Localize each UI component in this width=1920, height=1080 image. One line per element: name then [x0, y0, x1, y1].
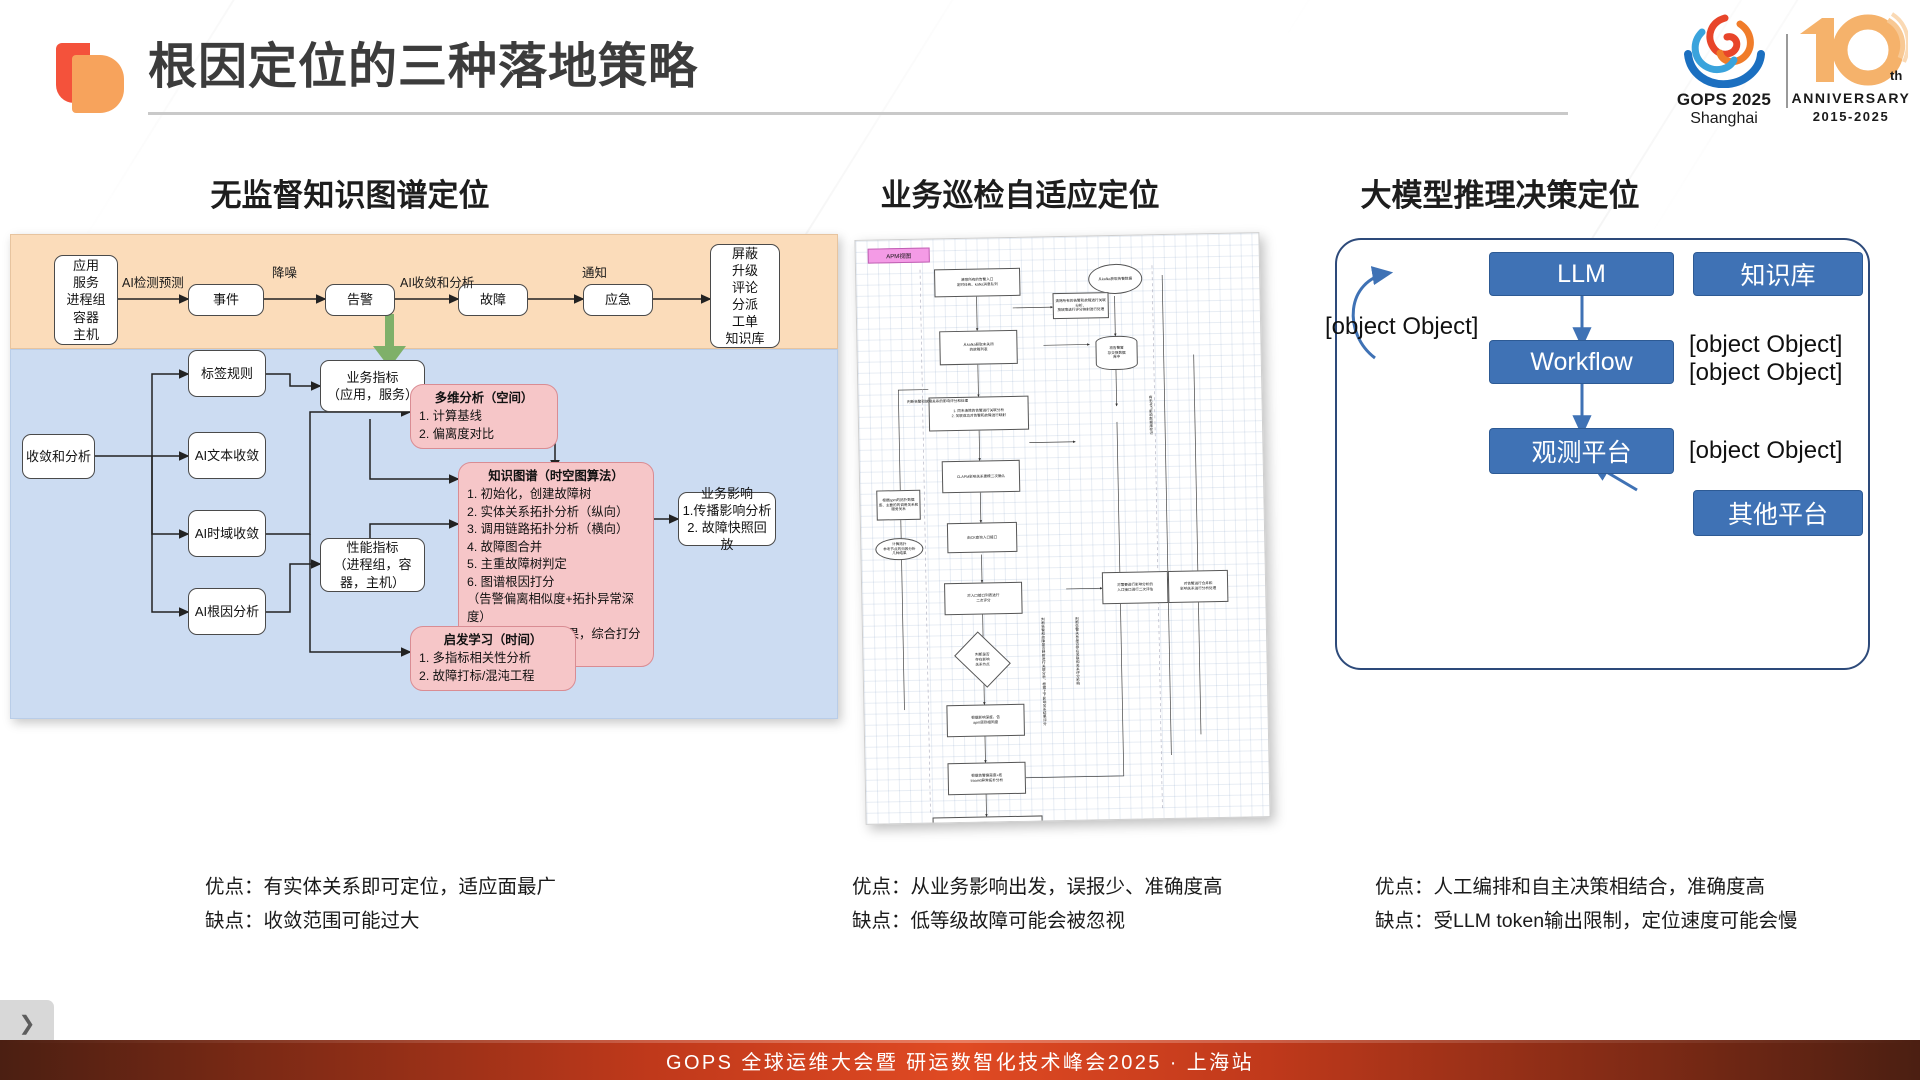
flow-node-datastore: 将告警暂 存交换数据 库中: [1095, 336, 1138, 371]
flow-node: 对告警进行合并和 影响关系进行分析处理: [1168, 570, 1229, 603]
gops-swirl-icon: [1682, 14, 1768, 88]
panel3-box-workflow: Workflow: [1489, 340, 1674, 384]
footer-highlight: [0, 1040, 1920, 1043]
column-heading-1: 无监督知识图谱定位: [120, 170, 580, 215]
panel1-node-time-convergence: AI时域收敛: [188, 510, 266, 557]
panel-llm-reasoning: LLM 知识库 Workflow 观测平台 其他平台 [object Objec…: [1335, 238, 1870, 670]
panel1-edge-label-4: 通知: [582, 262, 607, 281]
page-title: 根因定位的三种落地策略: [148, 38, 698, 97]
panel1-node-tag-rules: 标签规则: [188, 350, 266, 397]
flow-node: 根据告警偏离度+拓 traceId异常拓扑分析: [947, 762, 1026, 795]
box-title: 启发学习（时间）: [419, 632, 567, 649]
box-title: 多维分析（空间）: [419, 390, 549, 407]
caption-pros: 优点：从业务影响出发，误报少、准确度高: [852, 870, 1223, 904]
panel3-label-mcp-host: [object Object]: [1689, 330, 1842, 361]
node-label: 屏蔽 升级 评论 分派 工单 知识库: [725, 245, 764, 348]
slide-header: 根因定位的三种落地策略 GOPS 2025 Shanghai th ANNIVE…: [0, 0, 1920, 150]
node-label: 业务影响 1.传播影响分析 2. 故障快照回放: [682, 485, 772, 554]
panel1-edge-label-1: AI检测预测: [122, 272, 184, 291]
logo-event-name: GOPS 2025: [1668, 90, 1780, 110]
logo-anniversary: ANNIVERSARY: [1790, 90, 1912, 106]
panel3-box-llm: LLM: [1489, 252, 1674, 296]
node-label: 应用 服务 进程组 容器 主机: [66, 257, 105, 343]
box-line: （告警偏离相似度+拓扑异常深度）: [467, 592, 634, 623]
node-label: AI根因分析: [195, 603, 259, 620]
node-label: 告警: [347, 291, 373, 308]
caption-pros: 优点：人工编排和自主决策相结合，准确度高: [1375, 870, 1798, 904]
node-label: 应急: [605, 291, 631, 308]
panel1-edge-label-3: AI收敛和分析: [400, 272, 474, 291]
box-line: 6. 图谱根因打分: [467, 575, 554, 589]
tenth-anniversary-icon: th: [1792, 12, 1908, 88]
box-line: 1. 多指标相关性分析: [419, 651, 531, 665]
node-label: AI时域收敛: [195, 525, 259, 542]
box-line: 3. 调用链路拓扑分析（横向）: [467, 522, 628, 536]
caption-panel-1: 优点：有实体关系即可定位，适应面最广 缺点：收敛范围可能过大: [205, 870, 556, 938]
svg-text:th: th: [1890, 68, 1902, 83]
node-label: AI文本收敛: [195, 447, 259, 464]
column-heading-2: 业务巡检自适应定位: [790, 170, 1250, 215]
node-label: 故障: [480, 291, 506, 308]
panel1-node-convergence: 收敛和分析: [22, 434, 95, 479]
box-line: 2. 实体关系拓扑分析（纵向）: [467, 505, 628, 519]
box-line: 4. 故障图合并: [467, 540, 542, 554]
flow-node: 由CK查询入口接口: [947, 522, 1018, 553]
column-heading-3: 大模型推理决策定位: [1250, 170, 1750, 215]
flow-node: CLAPM影响关系建模二次确认: [942, 460, 1021, 493]
node-label: 业务指标 （应用，服务）: [327, 369, 418, 403]
panel3-label-mcp-server: [object Object]: [1689, 436, 1842, 467]
caption-cons: 缺点：低等级故障可能会被忽视: [852, 904, 1223, 938]
box-line: 2. 故障打标/混沌工程: [419, 669, 534, 683]
panel1-node-actions: 屏蔽 升级 评论 分派 工单 知识库: [710, 244, 780, 348]
box-line: 1. 计算基线: [419, 409, 482, 423]
flow-node: 从kafka获取未关闭 的故障列表: [939, 330, 1018, 365]
logo-divider: [1786, 34, 1788, 108]
caption-panel-2: 优点：从业务影响出发，误报少、准确度高 缺点：低等级故障可能会被忽视: [852, 870, 1223, 938]
panel1-pink-box-multidim: 多维分析（空间） 1. 计算基线 2. 偏离度对比: [410, 384, 558, 449]
title-divider: [148, 112, 1568, 115]
panel3-label-react: [object Object]: [1325, 312, 1478, 343]
panel-business-inspection-flowchart: APM视图: [854, 232, 1270, 825]
box-title: 知识图谱（时空图算法）: [467, 468, 645, 485]
panel-unsupervised-knowledge-graph: 应用 服务 进程组 容器 主机 事件 告警 故障 应急 屏蔽 升级 评论 分派 …: [10, 234, 838, 719]
flow-node: 对需要进行影响分析的 入口接口进行二次评估: [1102, 571, 1169, 604]
gops-logo: GOPS 2025 Shanghai th ANNIVERSARY 2015-2…: [1662, 12, 1912, 124]
panel1-node-business-impact: 业务影响 1.传播影响分析 2. 故障快照回放: [678, 492, 776, 546]
brand-mark-icon: [56, 43, 124, 111]
panel1-node-emergency: 应急: [583, 284, 653, 316]
panel3-box-knowledge-base: 知识库: [1693, 252, 1863, 296]
flow-node: 把apm的调用链计算进行打分（采 计异常数据分值同:一致），同时避免 的告警ap…: [933, 815, 1044, 824]
flow-node: 对入口接口列表进行 二次评分: [944, 582, 1023, 615]
flow-node: 根据影响深度、告 apm原则相同度: [946, 704, 1025, 737]
box-line: 2. 偏离度对比: [419, 427, 494, 441]
box-line: 1. 初始化，创建故障树: [467, 487, 591, 501]
logo-years: 2015-2025: [1790, 109, 1912, 124]
flow-node: 根据apm的拓扑数据 库、主要的的调用关系和服务关系: [876, 490, 921, 521]
logo-city: Shanghai: [1668, 110, 1780, 128]
panel1-node-source: 应用 服务 进程组 容器 主机: [54, 255, 118, 345]
caption-pros: 优点：有实体关系即可定位，适应面最广: [205, 870, 556, 904]
panel3-box-other-platform: 其他平台: [1693, 490, 1863, 536]
flow-node: 清除所有的告警入口 定时任务、kafka消息队列: [934, 268, 1021, 298]
panel3-box-observability-platform: 观测平台: [1489, 428, 1674, 474]
panel1-pink-box-heuristic: 启发学习（时间） 1. 多指标相关性分析 2. 故障打标/混沌工程: [410, 626, 576, 691]
footer-text: GOPS 全球运维大会暨 研运数智化技术峰会2025 · 上海站: [666, 1046, 1254, 1075]
node-label: 事件: [213, 291, 239, 308]
chevron-right-icon: ❯: [19, 1011, 36, 1036]
panel3-label-mcp-client: [object Object]: [1689, 358, 1842, 389]
panel2-connectors: [855, 233, 1270, 825]
box-line: 5. 主重故障树判定: [467, 557, 567, 571]
caption-cons: 缺点：受LLM token输出限制，定位速度可能会慢: [1375, 904, 1798, 938]
node-label: 收敛和分析: [26, 448, 91, 465]
panel1-node-alert: 告警: [325, 284, 395, 316]
slide-footer: GOPS 全球运维大会暨 研运数智化技术峰会2025 · 上海站: [0, 1040, 1920, 1080]
node-label: 标签规则: [201, 365, 253, 382]
panel1-node-text-convergence: AI文本收敛: [188, 432, 266, 479]
panel1-node-root-cause: AI根因分析: [188, 588, 266, 635]
flow-node: 清除所有的告警和故障进行关联分析、 按故障进行评分映射进行处理: [1052, 292, 1108, 319]
panel1-node-event: 事件: [188, 284, 264, 316]
caption-panel-3: 优点：人工编排和自主决策相结合，准确度高 缺点：受LLM token输出限制，定…: [1375, 870, 1798, 938]
node-label: 性能指标 （进程组，容器，主机）: [324, 539, 421, 590]
caption-cons: 缺点：收敛范围可能过大: [205, 904, 556, 938]
panel1-edge-label-2: 降噪: [272, 262, 297, 281]
panel1-node-performance-metrics: 性能指标 （进程组，容器，主机）: [320, 538, 425, 592]
